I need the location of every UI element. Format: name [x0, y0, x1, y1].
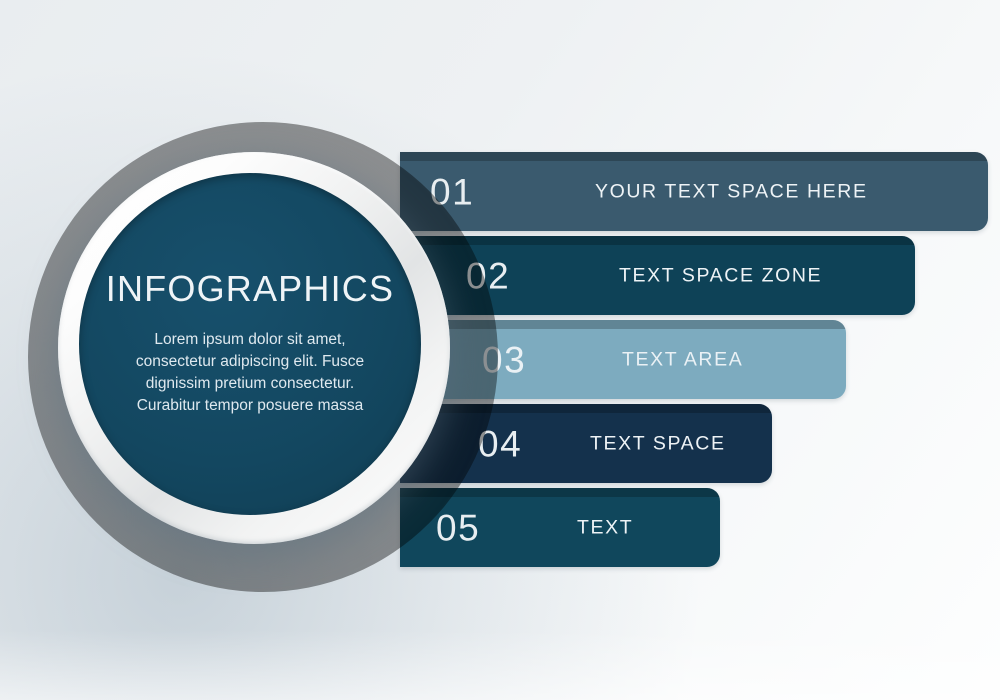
bar-label-04: TEXT SPACE: [590, 434, 726, 454]
circle-inner-disc: INFOGRAPHICS Lorem ipsum dolor sit amet,…: [79, 173, 421, 515]
circle-body-text: Lorem ipsum dolor sit amet, consectetur …: [119, 329, 381, 417]
main-circle[interactable]: INFOGRAPHICS Lorem ipsum dolor sit amet,…: [52, 148, 456, 552]
circle-title: INFOGRAPHICS: [106, 271, 394, 307]
bar-label-01: YOUR TEXT SPACE HERE: [595, 182, 868, 202]
bar-item-03[interactable]: 03 TEXT AREA: [400, 320, 846, 399]
infographic-canvas: 01 YOUR TEXT SPACE HERE 02 TEXT SPACE ZO…: [0, 0, 1000, 700]
bar-number-02: 02: [466, 257, 510, 294]
bar-label-03: TEXT AREA: [622, 350, 743, 370]
bar-item-02[interactable]: 02 TEXT SPACE ZONE: [400, 236, 915, 315]
bar-number-03: 03: [482, 341, 526, 378]
bar-label-02: TEXT SPACE ZONE: [619, 266, 822, 286]
bar-number-04: 04: [478, 425, 522, 462]
bar-label-05: TEXT: [577, 518, 633, 538]
bar-item-01[interactable]: 01 YOUR TEXT SPACE HERE: [400, 152, 988, 231]
